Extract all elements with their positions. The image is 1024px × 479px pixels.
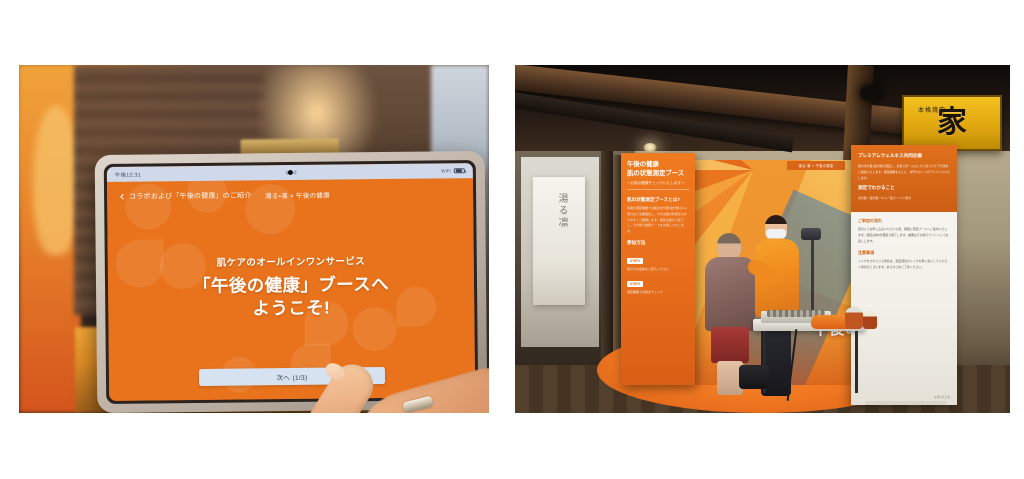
mini-collab-sign: 湯る・凛 × 午後の健康 xyxy=(787,161,845,170)
tablet-bezel: 午後12:31 ipad WiFi xyxy=(104,160,478,404)
hero-title-line2: ようこそ! xyxy=(108,296,474,323)
banner-right-sub-lines: 水分量／油分量／キメ／毛穴／ハリ・弾力 xyxy=(858,196,950,202)
screenshot-root: 午後12:31 ipad WiFi xyxy=(0,0,1024,479)
back-link[interactable]: コラボおよび「午後の健康」のご紹介 xyxy=(121,190,252,201)
battery-icon xyxy=(454,168,465,174)
left-photo-tablet-welcome: 午後12:31 ipad WiFi xyxy=(19,65,489,413)
app-navigation-bar: コラボおよび「午後の健康」のご紹介 湯る・凛 × 午後の健康 xyxy=(107,178,473,202)
app-content: コラボおよび「午後の健康」のご紹介 湯る・凛 × 午後の健康 肌ケアのオールイン… xyxy=(107,178,475,401)
brand-collab-label: 湯る・凛 × 午後の健康 xyxy=(265,190,330,201)
ceiling-spotlight xyxy=(643,143,657,152)
visitor-bag xyxy=(739,365,769,389)
banner-right-footer: 主催・湯る凛 xyxy=(934,395,950,399)
ceiling-light-fixture xyxy=(860,85,882,101)
banner-left-chip-2: STEP2 xyxy=(627,281,643,287)
banner-left-step-2: 測定機器でお肌をチェック xyxy=(627,290,689,296)
guest-skirt xyxy=(711,327,749,363)
banner-right-title: プレミアムウェルネス共同企画 xyxy=(858,153,950,160)
banner-left-chip-1: STEP1 xyxy=(627,258,643,264)
banner-left-step-1: 受付でお名前をご記入ください xyxy=(627,267,689,273)
face-mask-icon xyxy=(766,229,786,238)
back-link-label: コラボおよび「午後の健康」のご紹介 xyxy=(129,190,252,201)
right-photo-booth-venue: 湯る凛 本格焼肉 家 午後の健 湯る・凛 × 午後の健康 午後の健康 肌の状態測… xyxy=(515,65,1010,413)
shop-sign-subtext: 本格焼肉 xyxy=(918,105,946,114)
chevron-left-icon xyxy=(120,194,126,200)
banner-right-sub-heading: 測定でわかること xyxy=(858,185,950,192)
white-rollup-banner: プレミアムウェルネス共同企画 肌の水分量・油分量を測定し、お客さま一人ひとりに合… xyxy=(851,145,957,405)
banner-left-subtitle: 〜お肌の健康チェックいたします〜 xyxy=(627,181,689,190)
banner-right-body-3: メイクをされている場合は、測定部位のメイクを軽く落としていただく場合がございます… xyxy=(858,259,950,271)
display-doll-1 xyxy=(845,307,863,329)
measurement-device-head xyxy=(801,228,821,240)
banner-right-stand xyxy=(865,401,947,405)
banner-left-title: 午後の健康 肌の状態測定ブース xyxy=(627,161,689,178)
background-orange-wall xyxy=(19,65,81,413)
display-doll-2 xyxy=(863,311,877,329)
banner-right-heading-3: 注意事項 xyxy=(858,250,950,256)
banner-right-heading-2: ご参加の流れ xyxy=(858,218,950,224)
banner-left-heading-1: 肌の状態測定ブースとは? xyxy=(627,197,689,203)
guest-head xyxy=(717,233,741,259)
hero-section: 肌ケアのオールインワンサービス 「午後の健康」ブースへ ようこそ! xyxy=(108,252,475,323)
banner-right-head-lines: 肌の水分量・油分量を測定し、お客さま一人ひとりに合ったケア方法をご提案いたします… xyxy=(858,164,950,181)
status-bar-indicators: WiFi xyxy=(441,168,465,174)
noren-text: 湯る凛 xyxy=(547,193,569,229)
orange-rollup-banner: 午後の健康 肌の状態測定ブース 〜お肌の健康チェックいたします〜 肌の状態測定ブ… xyxy=(621,153,695,385)
shop-sign: 本格焼肉 家 xyxy=(902,95,1002,151)
tablet-device: 午後12:31 ipad WiFi xyxy=(95,151,488,413)
tablet-screen[interactable]: 午後12:31 ipad WiFi xyxy=(107,163,475,401)
banner-right-header: プレミアムウェルネス共同企画 肌の水分量・油分量を測定し、お客さま一人ひとりに合… xyxy=(851,145,957,212)
wifi-icon: WiFi xyxy=(441,168,451,173)
banner-left-body-1: 専用の測定機器でお肌の水分量・油分量・キメ・毛穴などを数値化し、今のお肌の状態を… xyxy=(627,206,689,234)
banner-right-body-2: 受付にてお申し込みいただいた後、順番に測定ブースへご案内いたします。測定は約5分… xyxy=(858,227,950,244)
hero-kicker: 肌ケアのオールインワンサービス xyxy=(108,252,474,270)
table-leg-right xyxy=(855,331,858,393)
front-camera xyxy=(287,170,292,175)
banner-left-heading-2: 参加方法 xyxy=(627,240,689,246)
status-bar-time: 午後12:31 xyxy=(115,170,141,178)
